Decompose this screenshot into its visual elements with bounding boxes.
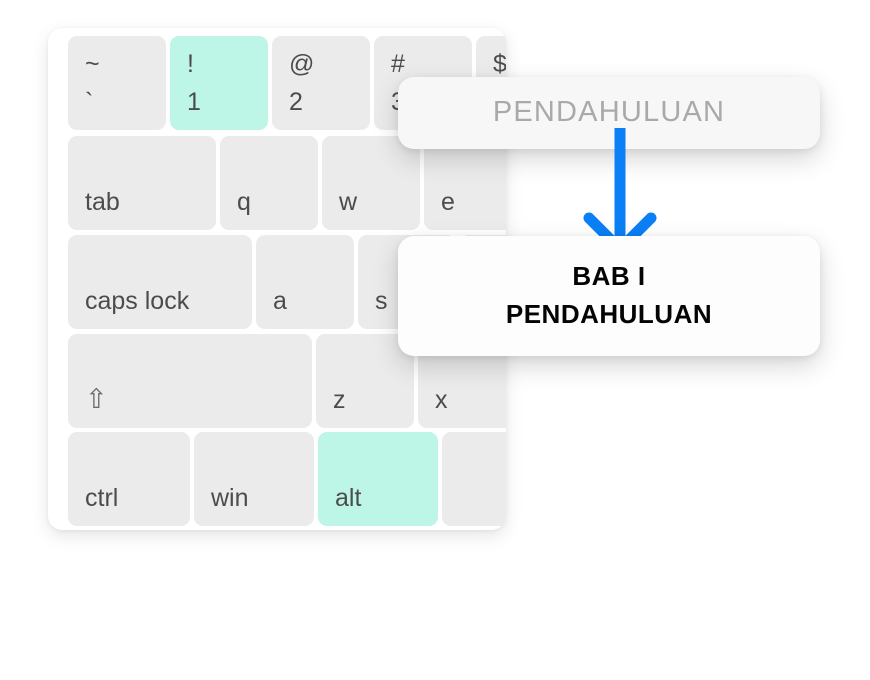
- key-shift-legend: ⇧: [85, 386, 108, 413]
- key-backtick-legend: `: [85, 90, 93, 115]
- key-e-legend: e: [441, 190, 455, 215]
- key-win-legend: win: [211, 486, 249, 511]
- key-w[interactable]: w: [322, 136, 420, 230]
- key-alt-legend: alt: [335, 486, 361, 511]
- key-backtick-shift-legend: ~: [85, 52, 100, 77]
- key-one-shift-legend: !: [187, 52, 194, 77]
- key-two[interactable]: @2: [272, 36, 370, 130]
- key-space[interactable]: [442, 432, 506, 526]
- key-tab-legend: tab: [85, 190, 120, 215]
- source-text-card[interactable]: PENDAHULUAN: [398, 77, 820, 149]
- key-backtick[interactable]: ~`: [68, 36, 166, 130]
- key-caps-lock[interactable]: caps lock: [68, 235, 252, 329]
- key-q-legend: q: [237, 190, 251, 215]
- key-caps-lock-legend: caps lock: [85, 289, 189, 314]
- result-line-1: BAB I: [572, 258, 645, 296]
- key-tab[interactable]: tab: [68, 136, 216, 230]
- key-w-legend: w: [339, 190, 357, 215]
- key-three-shift-legend: #: [391, 52, 405, 77]
- key-one-legend: 1: [187, 90, 201, 115]
- key-ctrl[interactable]: ctrl: [68, 432, 190, 526]
- key-two-legend: 2: [289, 90, 303, 115]
- key-z-legend: z: [333, 388, 346, 413]
- key-two-shift-legend: @: [289, 52, 314, 77]
- key-s-legend: s: [375, 289, 388, 314]
- key-a-legend: a: [273, 289, 287, 314]
- key-win[interactable]: win: [194, 432, 314, 526]
- key-shift[interactable]: ⇧: [68, 334, 312, 428]
- key-a[interactable]: a: [256, 235, 354, 329]
- key-ctrl-legend: ctrl: [85, 486, 118, 511]
- key-e[interactable]: e: [424, 136, 506, 230]
- key-alt[interactable]: alt: [318, 432, 438, 526]
- result-text-card[interactable]: BAB I PENDAHULUAN: [398, 236, 820, 356]
- key-four-shift-legend: $: [493, 52, 506, 77]
- key-q[interactable]: q: [220, 136, 318, 230]
- key-one[interactable]: !1: [170, 36, 268, 130]
- result-line-2: PENDAHULUAN: [506, 296, 712, 334]
- source-text: PENDAHULUAN: [493, 97, 725, 129]
- key-x-legend: x: [435, 388, 448, 413]
